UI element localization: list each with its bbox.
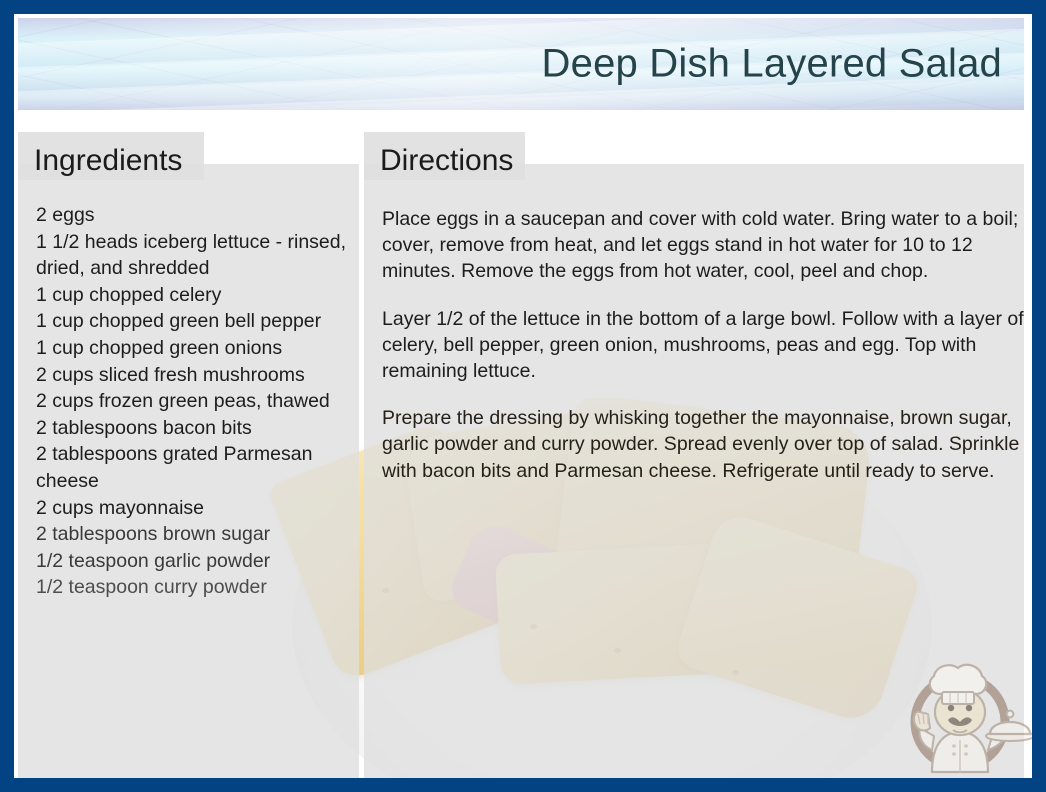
list-item: 1 1/2 heads iceberg lettuce - rinsed, dr… [36, 229, 366, 282]
ingredients-heading: Ingredients [34, 144, 182, 178]
directions-paragraph: Prepare the dressing by whisking togethe… [382, 405, 1027, 484]
list-item: 2 tablespoons grated Parmesan cheese [36, 441, 366, 494]
title-banner: Deep Dish Layered Salad [18, 18, 1024, 110]
list-item: 1 cup chopped green bell pepper [36, 308, 366, 335]
list-item: 2 cups mayonnaise [36, 495, 366, 522]
list-item: 2 cups sliced fresh mushrooms [36, 362, 366, 389]
card-inner-mat: Deep Dish Layered Salad Ingredients [14, 14, 1032, 778]
chef-mascot-logo [898, 650, 1032, 778]
directions-paragraph: Place eggs in a saucepan and cover with … [382, 206, 1027, 285]
ingredients-list: 2 eggs 1 1/2 heads iceberg lettuce - rin… [36, 202, 366, 601]
list-item: 2 cups frozen green peas, thawed [36, 388, 366, 415]
list-item: 1/2 teaspoon curry powder [36, 574, 366, 601]
ingredients-heading-tab: Ingredients [18, 132, 204, 180]
list-item: 2 eggs [36, 202, 366, 229]
list-item: 1 cup chopped green onions [36, 335, 366, 362]
recipe-card: Deep Dish Layered Salad Ingredients [0, 0, 1046, 792]
list-item: 2 tablespoons bacon bits [36, 415, 366, 442]
directions-paragraph: Layer 1/2 of the lettuce in the bottom o… [382, 306, 1027, 385]
list-item: 2 tablespoons brown sugar [36, 521, 366, 548]
directions-heading-tab: Directions [364, 132, 525, 180]
list-item: 1/2 teaspoon garlic powder [36, 548, 366, 575]
directions-heading: Directions [380, 144, 513, 178]
page-title: Deep Dish Layered Salad [542, 42, 1002, 87]
directions-body: Place eggs in a saucepan and cover with … [382, 206, 1027, 484]
list-item: 1 cup chopped celery [36, 282, 366, 309]
